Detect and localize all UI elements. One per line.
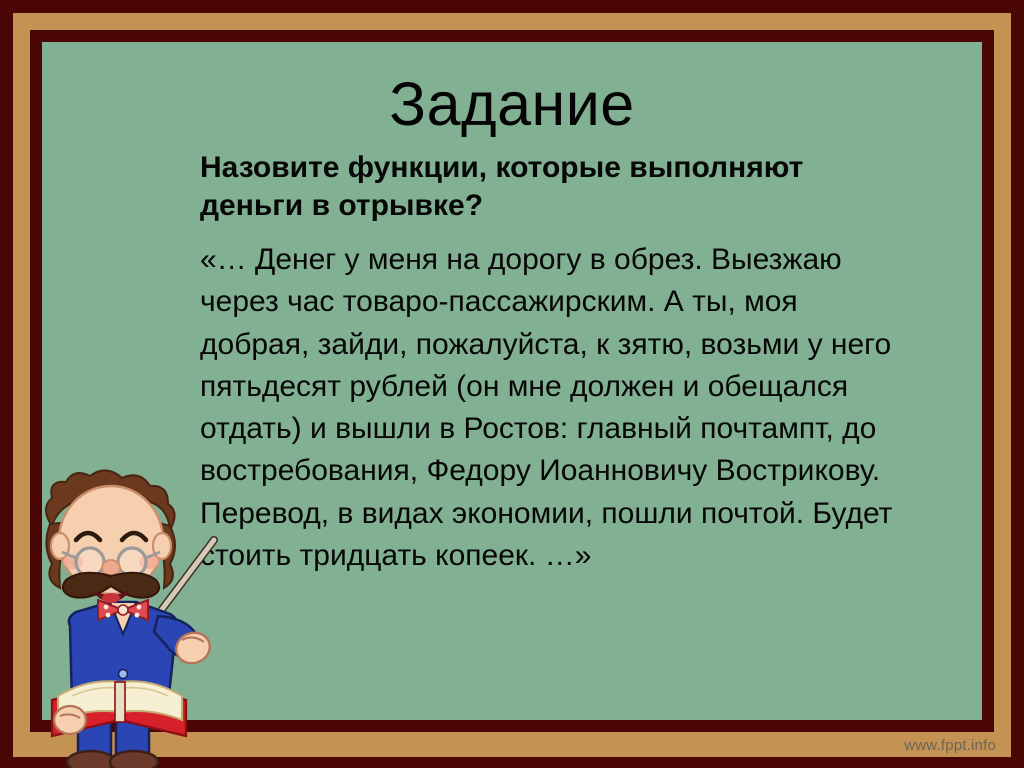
quote-line: востребования, Федору Иоанновичу Вострик… — [200, 450, 982, 492]
quote-line: стоить тридцать копеек. …» — [200, 535, 982, 577]
text-content: Задание Назовите функции, которые выполн… — [42, 42, 982, 720]
quote-line: «… Денег у меня на дорогу в обрез. Выезж… — [200, 239, 982, 281]
quote-line: Перевод, в видах экономии, пошли почтой.… — [200, 493, 982, 535]
quote-passage: «… Денег у меня на дорогу в обрез. Выезж… — [200, 239, 982, 577]
frame-tan-band: Задание Назовите функции, которые выполн… — [13, 13, 1011, 757]
quote-line: добрая, зайди, пожалуйста, к зятю, возьм… — [200, 324, 982, 366]
page-title: Задание — [42, 74, 982, 135]
slide-content-area: Задание Назовите функции, которые выполн… — [42, 42, 982, 720]
quote-line: через час товаро-пассажирским. А ты, моя — [200, 281, 982, 323]
frame-inner-maroon-band: Задание Назовите функции, которые выполн… — [30, 30, 994, 732]
slide-canvas: Задание Назовите функции, которые выполн… — [0, 0, 1024, 768]
question-prompt: Назовите функции, которые выполняют день… — [200, 149, 900, 226]
quote-line: отдать) и вышли в Ростов: главный почтам… — [200, 408, 982, 450]
quote-line: пятьдесят рублей (он мне должен и обещал… — [200, 366, 982, 408]
watermark-fppt: www.fppt.info — [904, 737, 996, 754]
